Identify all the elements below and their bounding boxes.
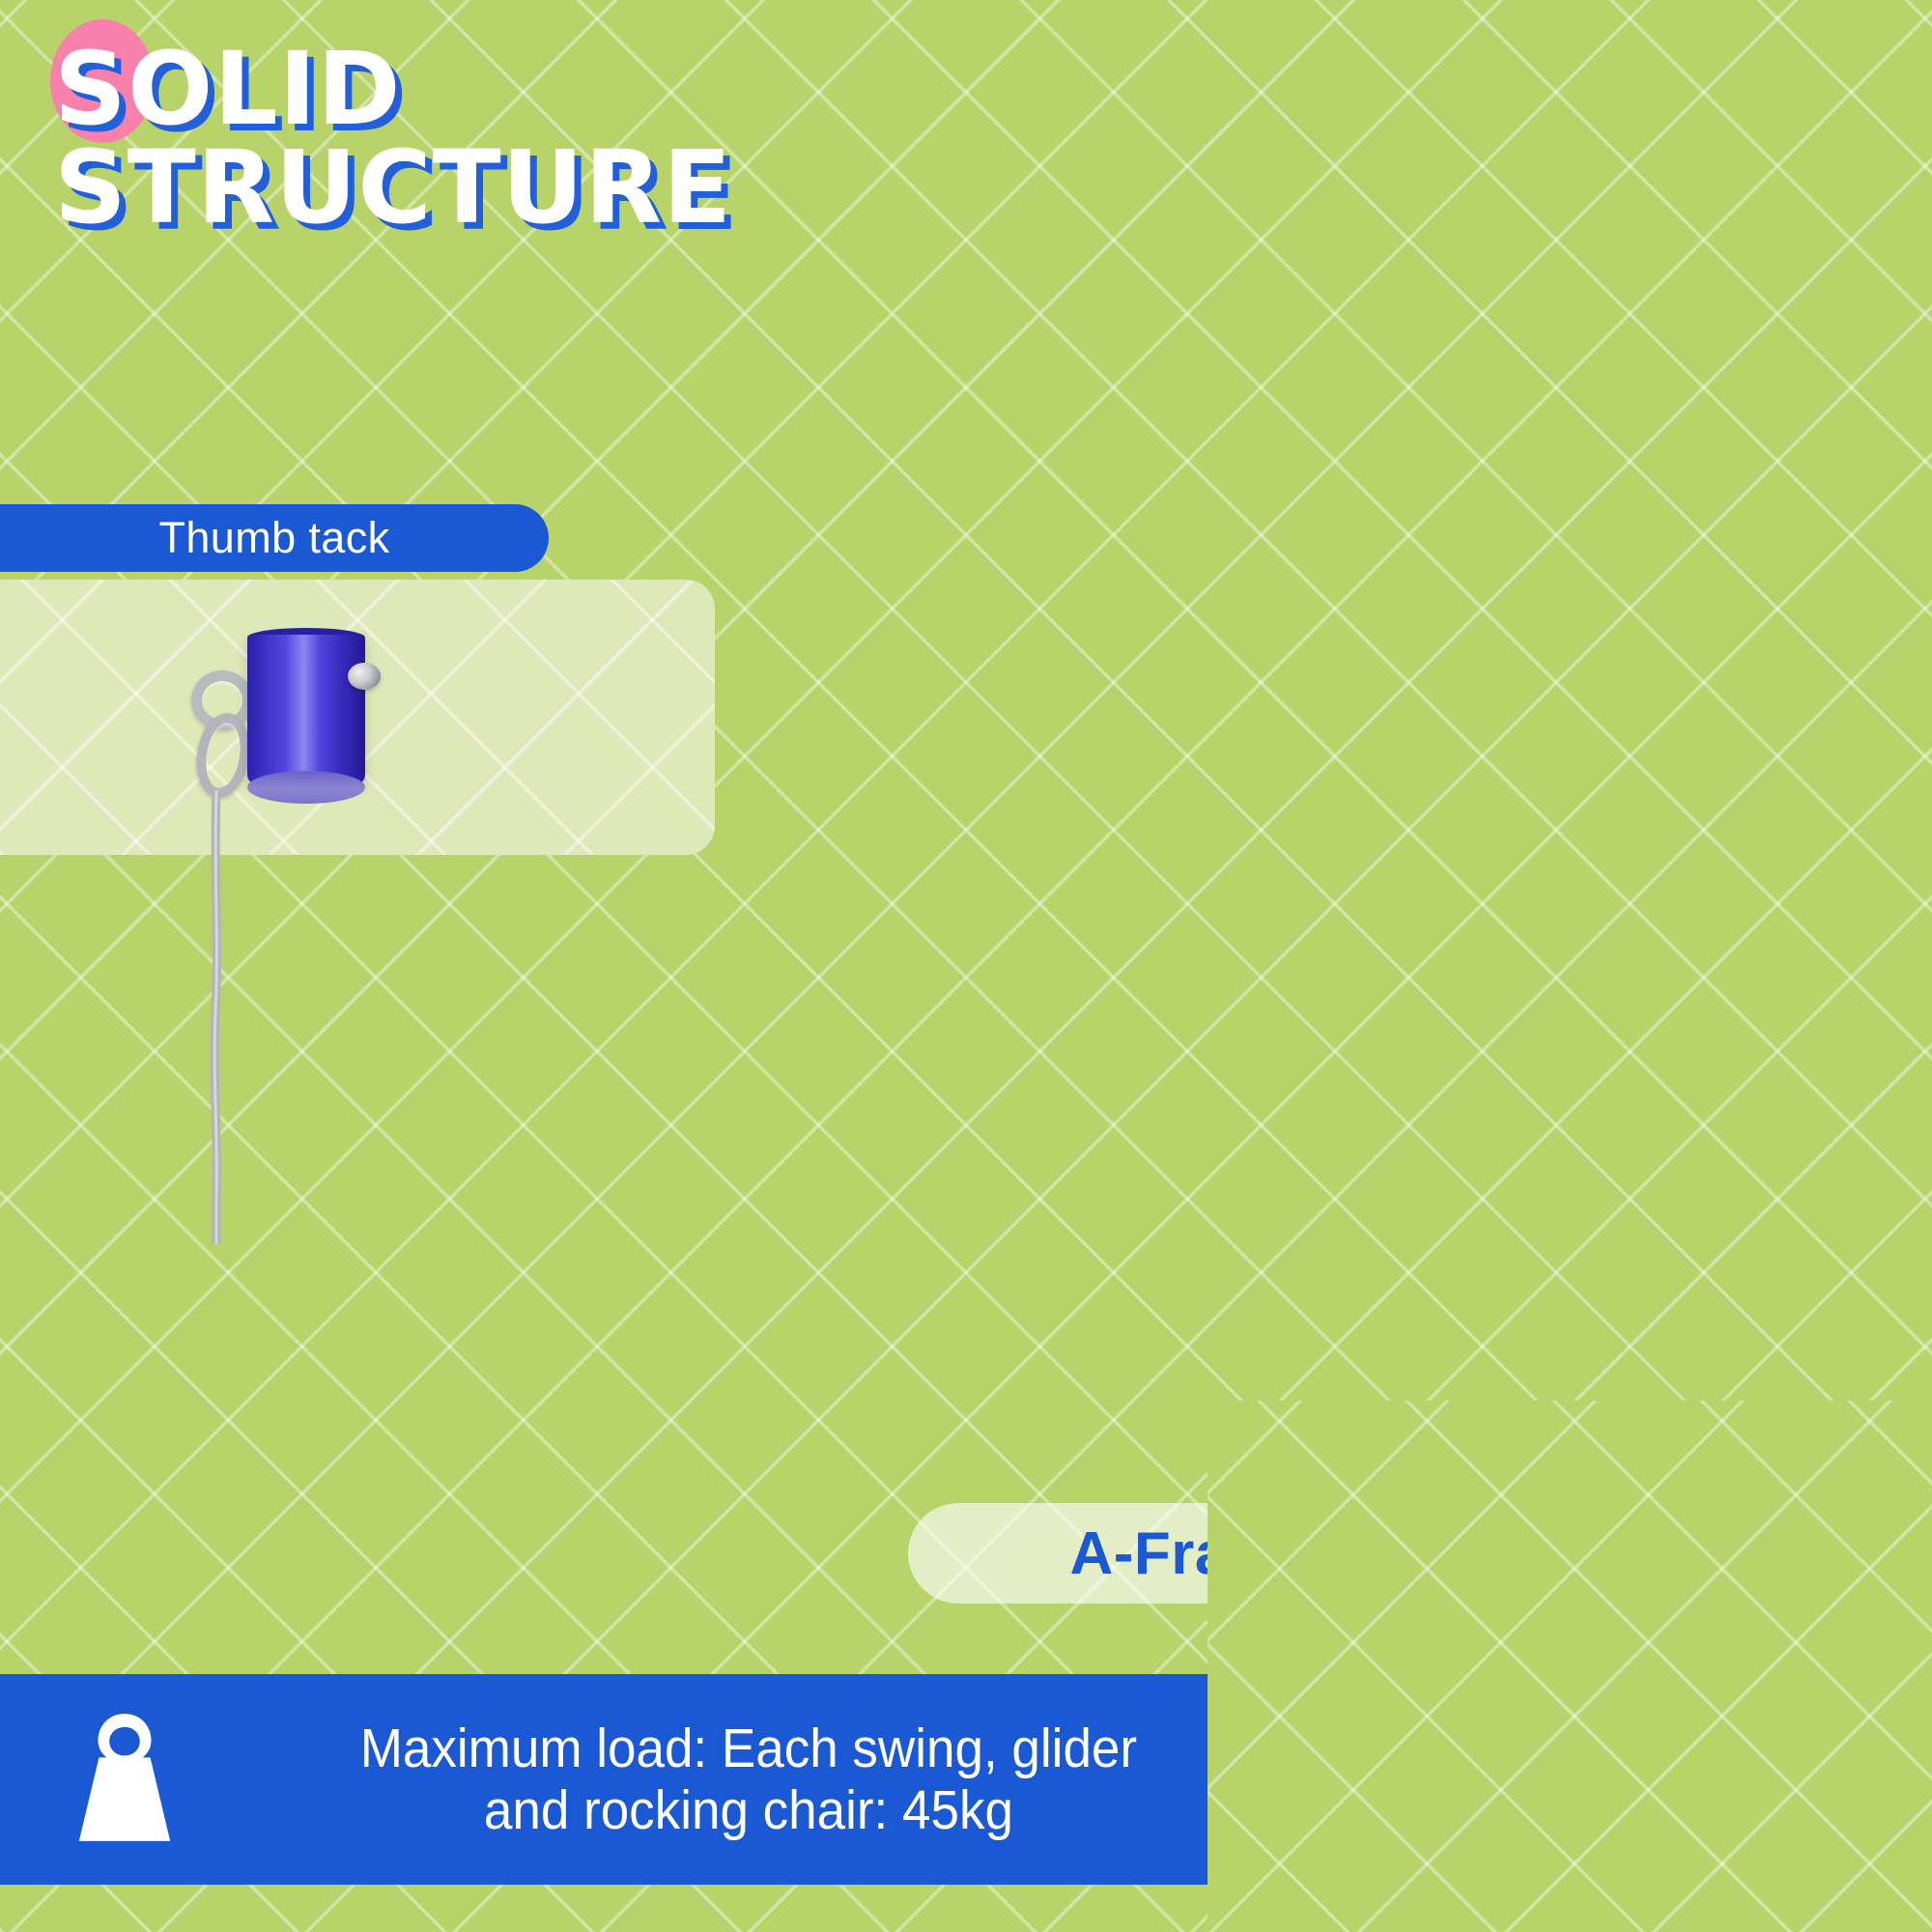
product-feature-graphic: SOLID STRUCTURE Thumb tack A-Frame — [0, 0, 1932, 1932]
weight-icon — [52, 1708, 197, 1851]
corner-accent-green — [1207, 1401, 1932, 1932]
max-load-line-2: and rocking chair: 45kg — [240, 1779, 1259, 1841]
tack-body — [247, 635, 365, 784]
max-load-banner: Maximum load: Each swing, glider and roc… — [0, 1674, 1401, 1885]
anchor-ring-lower — [190, 709, 255, 801]
max-load-text: Maximum load: Each swing, glider and roc… — [240, 1718, 1359, 1842]
thumb-tack-illustration — [145, 560, 454, 1275]
thumb-tack-label: Thumb tack — [0, 504, 549, 572]
headline-line-2: STRUCTURE — [54, 139, 1020, 238]
thumb-tack-label-text: Thumb tack — [158, 513, 389, 563]
page-title: SOLID STRUCTURE — [54, 41, 1020, 238]
tack-base — [247, 771, 365, 804]
max-load-line-1: Maximum load: Each swing, glider — [360, 1718, 1137, 1779]
tack-knob — [348, 663, 381, 690]
tack-spike — [209, 790, 224, 1244]
